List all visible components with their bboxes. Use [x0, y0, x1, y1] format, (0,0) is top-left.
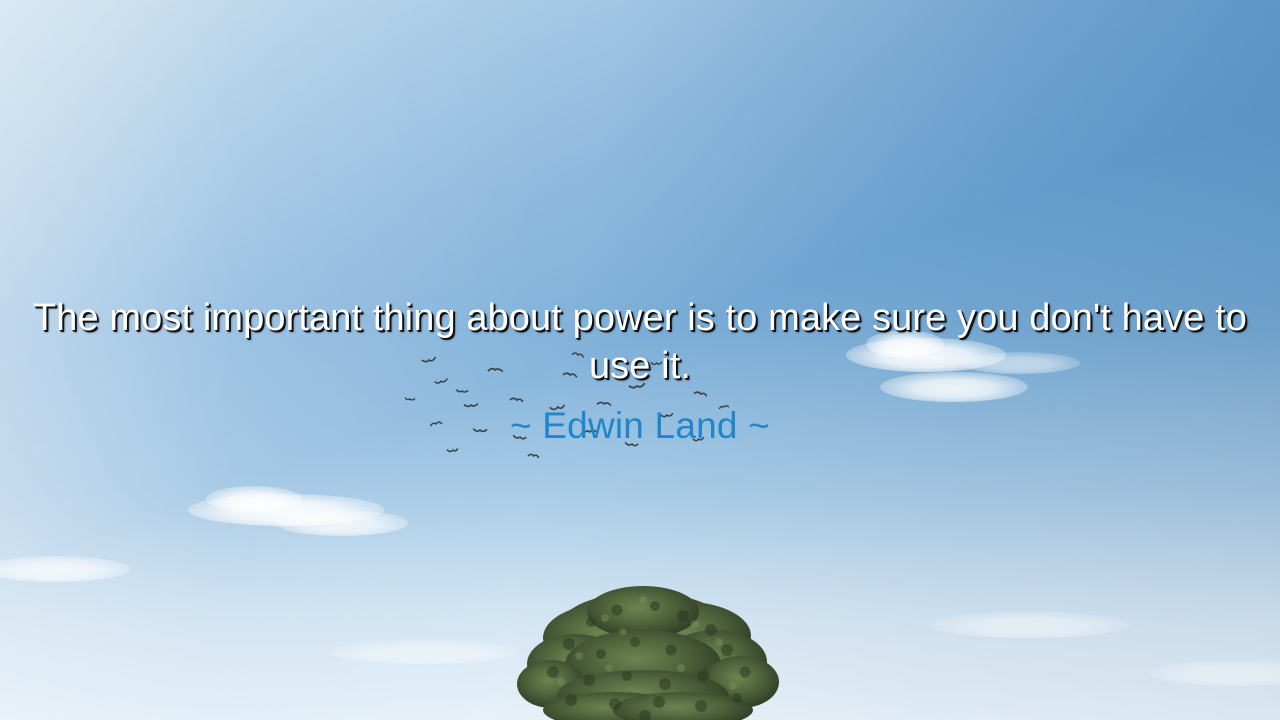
quote-author: ~ Edwin Land ~ — [30, 404, 1250, 448]
quote-image-canvas: The most important thing about power is … — [0, 0, 1280, 720]
quote-overlay: The most important thing about power is … — [0, 294, 1280, 448]
quote-text: The most important thing about power is … — [30, 294, 1250, 390]
